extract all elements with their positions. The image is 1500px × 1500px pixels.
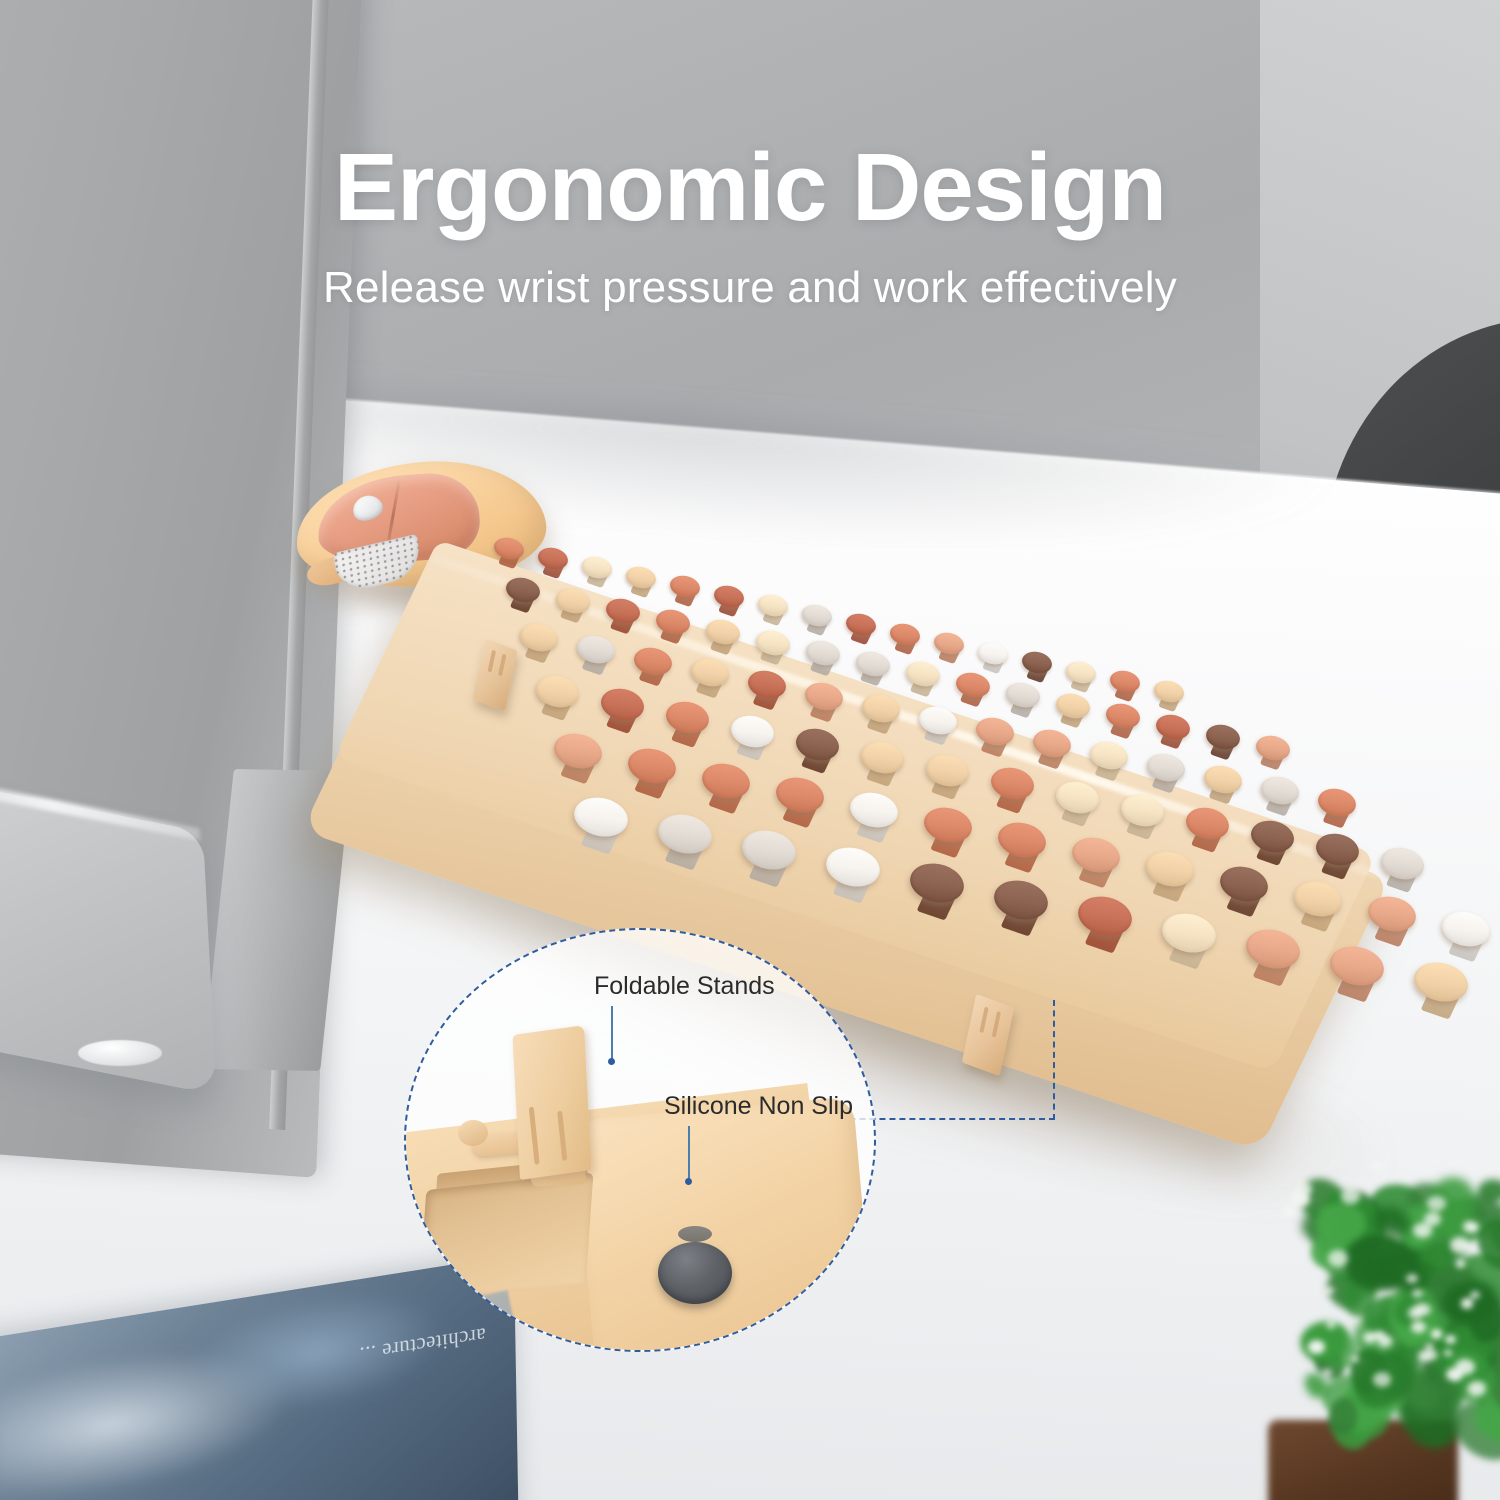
keycap <box>1150 677 1187 706</box>
keycap <box>726 710 780 752</box>
leader-line-foldable-stands <box>611 1006 613 1062</box>
keycap <box>702 616 744 649</box>
keycap <box>629 643 676 680</box>
keycap <box>1052 689 1094 722</box>
callout-label-silicone-non-slip: Silicone Non Slip <box>664 1092 853 1121</box>
keycap <box>1051 776 1105 818</box>
plant-flower <box>1455 1359 1475 1375</box>
keycap <box>686 654 733 691</box>
keycap <box>1106 667 1143 696</box>
callout-foldable-stand-plate <box>512 1025 591 1180</box>
callout-label-foldable-stands: Foldable Stands <box>594 972 775 1001</box>
keycap <box>952 668 994 701</box>
keycap <box>798 601 835 630</box>
callout-silicone-pad <box>658 1242 732 1304</box>
keycap <box>661 697 715 739</box>
plant-flower <box>1461 1298 1474 1308</box>
keycap <box>735 824 802 876</box>
plant-flower <box>1463 1221 1476 1232</box>
keycap <box>1028 725 1075 762</box>
keycap <box>696 757 756 804</box>
keycap <box>652 605 694 638</box>
keycap <box>1062 658 1099 687</box>
keycap <box>844 787 904 834</box>
keycap <box>800 678 847 715</box>
keycap <box>1071 890 1138 942</box>
keycap <box>1202 721 1244 754</box>
page-subtitle: Release wrist pressure and work effectiv… <box>0 264 1500 312</box>
callout-silicone-pad-rim <box>678 1226 712 1242</box>
keycap <box>842 610 879 639</box>
keycap <box>1313 784 1360 821</box>
plant-flower <box>1308 1340 1325 1354</box>
keycap <box>1376 842 1430 884</box>
keycap <box>1288 876 1348 923</box>
keycap <box>987 873 1054 925</box>
keycap <box>531 670 585 712</box>
keycap <box>572 631 619 668</box>
plant-flower <box>1456 1260 1465 1268</box>
keycap <box>1246 816 1300 858</box>
keyboard-keycap-field <box>432 520 1462 940</box>
keycap <box>622 563 659 592</box>
plant-flower <box>1426 1350 1438 1360</box>
keycap <box>791 723 845 765</box>
plant-flower <box>1452 1374 1460 1381</box>
keycap <box>857 690 904 727</box>
callout-stand-recess <box>419 1173 594 1302</box>
keycap <box>1002 679 1044 712</box>
callout-connector-vertical <box>1053 1000 1055 1120</box>
keycap <box>886 620 923 649</box>
keycap <box>770 772 830 819</box>
keycap <box>852 647 894 680</box>
keycap <box>1181 802 1235 844</box>
keycap <box>819 840 886 892</box>
keycap <box>1140 846 1200 893</box>
keycap <box>986 763 1040 805</box>
page-title: Ergonomic Design <box>0 140 1500 236</box>
keycap <box>666 572 703 601</box>
keycap <box>1362 890 1422 937</box>
keycap <box>754 591 791 620</box>
keycap <box>602 595 644 628</box>
keycap <box>1152 710 1194 743</box>
keycap <box>1252 731 1294 764</box>
keycap <box>1018 648 1055 677</box>
plant-flower <box>1411 1321 1426 1333</box>
keycap <box>930 629 967 658</box>
plant-flower <box>1444 1350 1451 1356</box>
product-marketing-image: architecture ... <box>0 0 1500 1500</box>
plant-flower <box>1351 1356 1359 1362</box>
keycap <box>567 791 634 843</box>
keycap <box>534 544 571 573</box>
keycap <box>1066 831 1126 878</box>
plant-flower <box>1468 1381 1486 1396</box>
leader-line-silicone-non-slip <box>688 1126 690 1182</box>
keycap <box>752 626 794 659</box>
keycap <box>515 619 562 656</box>
keycap <box>1085 737 1132 774</box>
plant-flower <box>1432 1155 1440 1161</box>
keycap <box>1199 761 1246 798</box>
monitor-base-foot <box>78 1040 162 1066</box>
plant-flower <box>1408 1307 1423 1319</box>
plant-flower <box>1325 1287 1333 1294</box>
keycap <box>921 750 975 792</box>
callout-keyboard-corner <box>574 1096 876 1352</box>
plant-flower <box>1450 1237 1469 1253</box>
keycap <box>903 857 970 909</box>
plant-flower <box>1322 1369 1332 1377</box>
keycap <box>914 702 961 739</box>
plant-flower <box>1431 1329 1442 1338</box>
keycap <box>596 684 650 726</box>
keycap <box>490 534 527 563</box>
keycap <box>902 658 944 691</box>
leader-dot-silicone-non-slip <box>685 1178 692 1185</box>
keycap <box>622 742 682 789</box>
keycap <box>710 582 747 611</box>
plant-flower <box>1427 1196 1446 1212</box>
keycap <box>502 574 544 607</box>
keycap <box>1116 789 1170 831</box>
keycap <box>1256 772 1303 809</box>
keycap <box>802 637 844 670</box>
keycap <box>992 816 1052 863</box>
plant-flower <box>1363 1332 1377 1343</box>
leader-dot-foldable-stands <box>608 1058 615 1065</box>
keycap <box>552 584 594 617</box>
plant-flower <box>1412 1289 1423 1298</box>
keycap <box>548 728 608 775</box>
keycap <box>971 713 1018 750</box>
keycap <box>1311 829 1365 871</box>
keycap <box>1142 749 1189 786</box>
keycap <box>651 807 718 859</box>
keycap <box>578 553 615 582</box>
keycap <box>856 736 910 778</box>
keycap <box>974 639 1011 668</box>
keycap <box>918 802 978 849</box>
keycap <box>1102 700 1144 733</box>
keycap <box>743 666 790 703</box>
keycap <box>1214 861 1274 908</box>
